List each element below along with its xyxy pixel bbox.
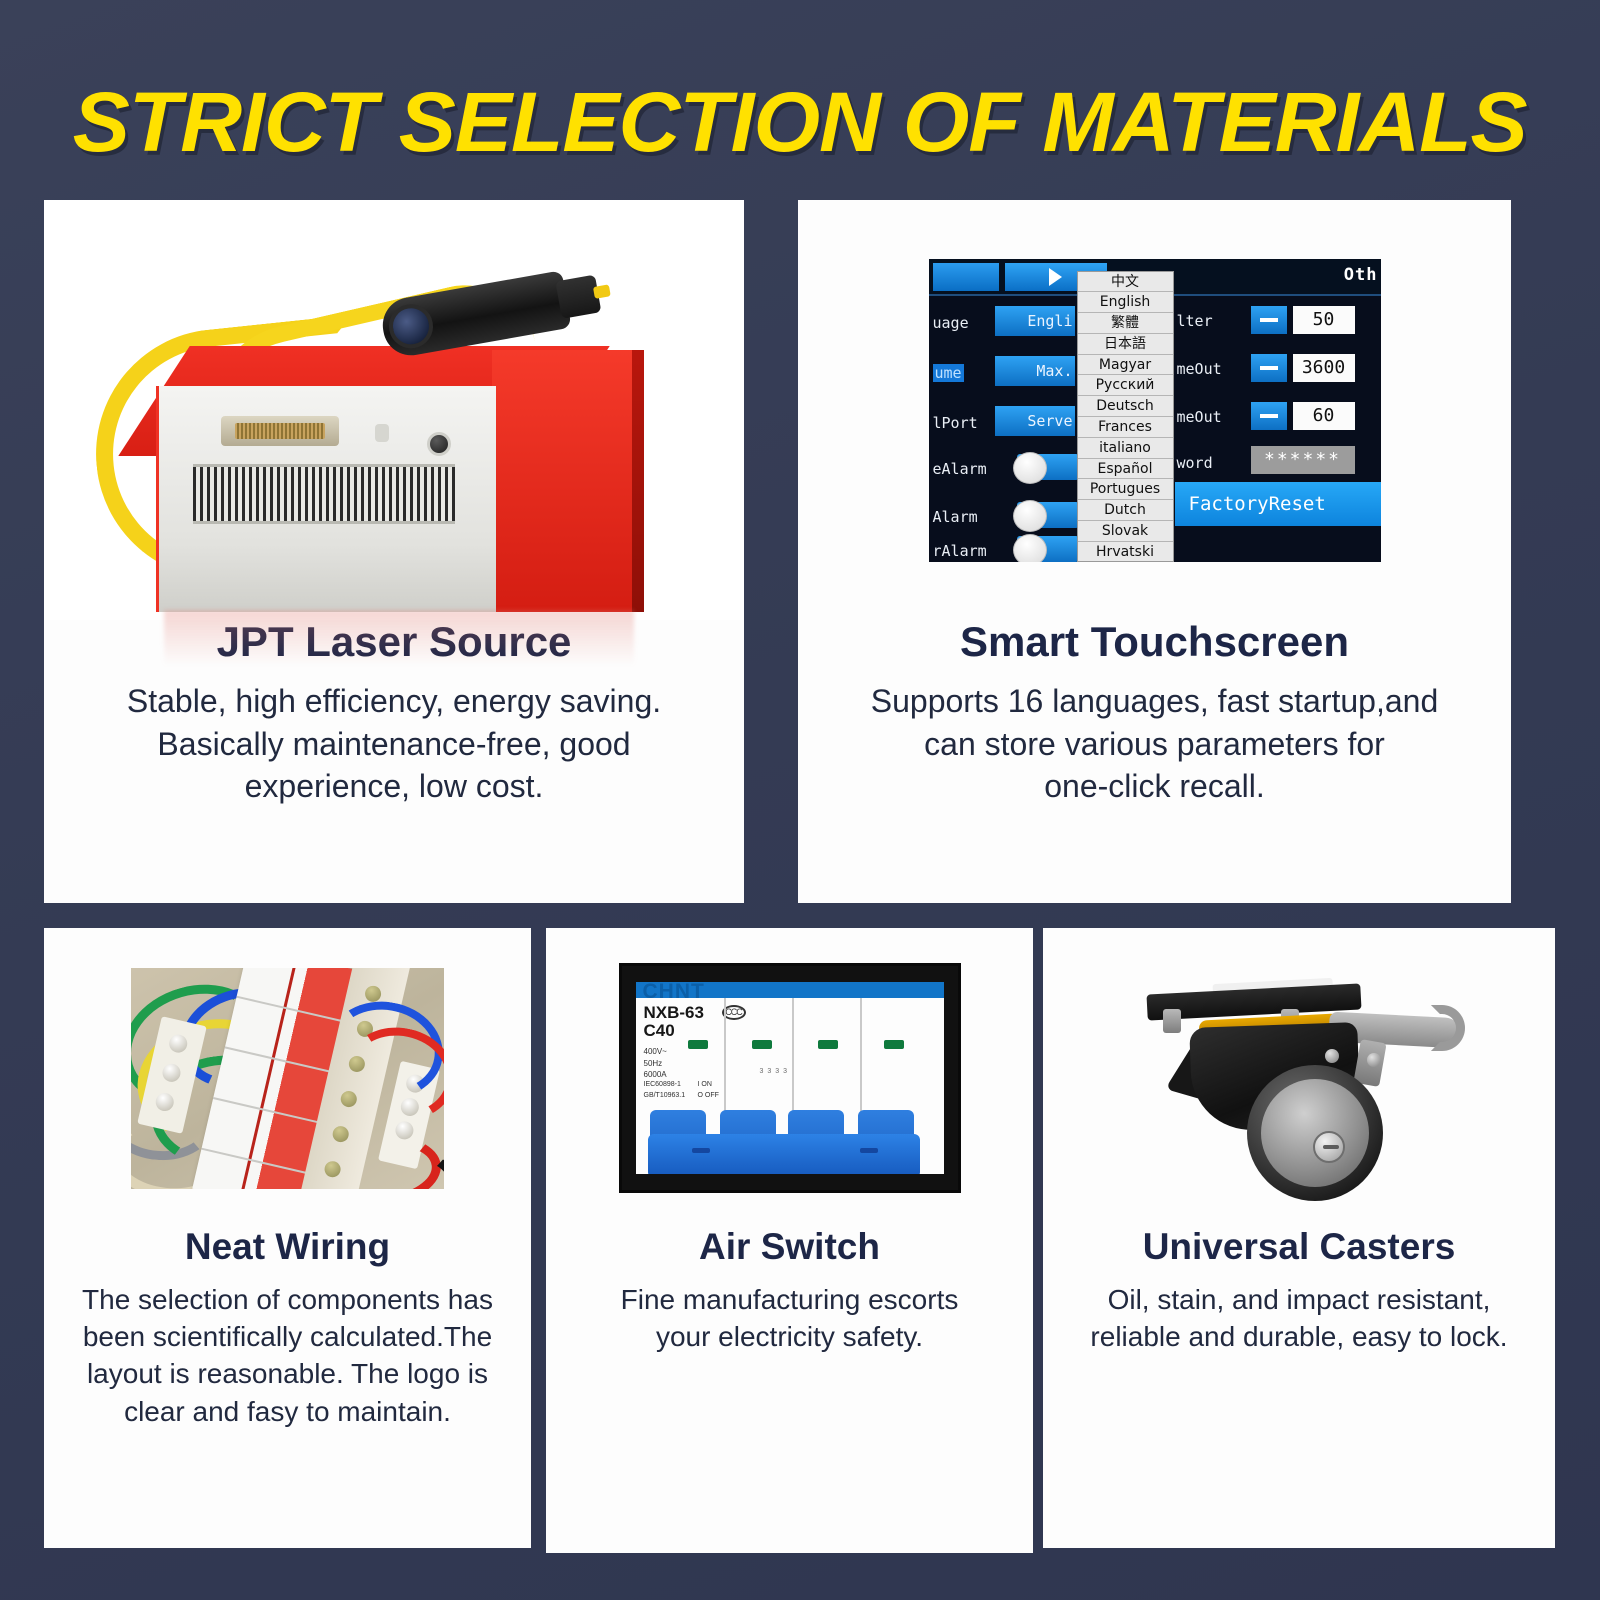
breaker-pole-divider bbox=[236, 995, 342, 1021]
touchscreen-ui-mock: Oth uage Engli ume Max. lPort Serve eAla… bbox=[929, 259, 1381, 562]
setting-label-alarm-1: eAlarm bbox=[933, 460, 987, 478]
language-option[interactable]: English bbox=[1078, 292, 1173, 313]
setting-label-language: uage bbox=[933, 314, 969, 332]
language-option[interactable]: Portugues bbox=[1078, 479, 1173, 500]
panel-screw-icon bbox=[375, 424, 389, 442]
caster-hub-bolt bbox=[1313, 1131, 1345, 1163]
air-switch-image: CHNT NXB-63 C40 CCC 400V~ 50Hz 6000A IEC… bbox=[546, 928, 1033, 1228]
minus-icon-timeout-2[interactable] bbox=[1251, 402, 1287, 430]
laser-front-panel bbox=[156, 386, 496, 612]
language-option[interactable]: 中文 bbox=[1078, 272, 1173, 293]
breaker-status-indicator bbox=[688, 1040, 708, 1049]
wiring-photo bbox=[131, 968, 444, 1189]
breaker-spec-frequency: 50Hz bbox=[644, 1058, 667, 1070]
card-title-universal-casters: Universal Casters bbox=[1143, 1228, 1456, 1267]
setting-value-serialport[interactable]: Serve bbox=[995, 406, 1075, 436]
desc-line: layout is reasonable. The logo is bbox=[82, 1355, 493, 1392]
setting-label-volume-text: ume bbox=[933, 364, 964, 382]
param-value-filter[interactable]: 50 bbox=[1293, 306, 1355, 334]
breaker-brand-label: CHNT bbox=[643, 982, 705, 1004]
desc-line: one-click recall. bbox=[871, 765, 1439, 808]
breaker-status-indicator bbox=[884, 1040, 904, 1049]
play-triangle-icon bbox=[1049, 268, 1062, 286]
rail-screw bbox=[363, 984, 382, 1003]
desc-line: reliable and durable, easy to lock. bbox=[1090, 1318, 1507, 1355]
terminal-hole bbox=[161, 1062, 183, 1084]
breaker-model-number: NXB-63 bbox=[644, 1004, 704, 1022]
setting-label-volume: ume bbox=[933, 364, 964, 382]
language-option[interactable]: italiano bbox=[1078, 438, 1173, 459]
param-label-password: word bbox=[1177, 454, 1213, 472]
card-title-neat-wiring: Neat Wiring bbox=[185, 1228, 390, 1267]
infographic-page: STRICT SELECTION OF MATERIALS bbox=[0, 0, 1600, 1600]
desc-line: been scientifically calculated.The bbox=[82, 1318, 493, 1355]
breaker-off-label: O OFF bbox=[698, 1091, 719, 1102]
circuit-breaker-photo: CHNT NXB-63 C40 CCC 400V~ 50Hz 6000A IEC… bbox=[619, 963, 961, 1193]
feature-card-air-switch: CHNT NXB-63 C40 CCC 400V~ 50Hz 6000A IEC… bbox=[546, 928, 1033, 1553]
card-title-smart-touchscreen: Smart Touchscreen bbox=[960, 620, 1349, 664]
tab-button-left[interactable] bbox=[933, 263, 999, 291]
language-option[interactable]: 日本語 bbox=[1078, 334, 1173, 355]
breaker-schematic-marks: 3333 bbox=[760, 1068, 792, 1075]
breaker-standard-gb: GB/T10963.1 bbox=[644, 1091, 686, 1102]
language-option[interactable]: Español bbox=[1078, 459, 1173, 480]
desc-line: clear and fasy to maintain. bbox=[82, 1393, 493, 1430]
language-option[interactable]: Magyar bbox=[1078, 355, 1173, 376]
caster-wheel bbox=[1247, 1065, 1383, 1201]
feature-card-neat-wiring: Neat Wiring The selection of components … bbox=[44, 928, 531, 1548]
param-label-timeout-2: meOut bbox=[1177, 408, 1222, 426]
language-option[interactable]: Hrvatski bbox=[1078, 542, 1173, 562]
card-description-universal-casters: Oil, stain, and impact resistant, reliab… bbox=[1064, 1281, 1533, 1355]
breaker-pole-divider bbox=[201, 1147, 307, 1173]
terminal-hole bbox=[167, 1032, 189, 1054]
breaker-body: CHNT NXB-63 C40 CCC 400V~ 50Hz 6000A IEC… bbox=[636, 982, 944, 1174]
breaker-status-indicator bbox=[752, 1040, 772, 1049]
terminal-hole bbox=[154, 1091, 176, 1113]
desc-line: Fine manufacturing escorts bbox=[621, 1281, 959, 1318]
universal-casters-image bbox=[1043, 928, 1555, 1228]
tie-bar-mark bbox=[860, 1148, 878, 1153]
db25-connector-icon bbox=[221, 416, 339, 446]
breaker-standard-block: IEC60898-1 GB/T10963.1 bbox=[644, 1080, 686, 1101]
param-value-timeout-2[interactable]: 60 bbox=[1293, 402, 1355, 430]
language-option[interactable]: Slovak bbox=[1078, 521, 1173, 542]
desc-line: The selection of components has bbox=[82, 1281, 493, 1318]
breaker-spec-block: 400V~ 50Hz 6000A bbox=[644, 1046, 667, 1081]
caster-brake-hook[interactable] bbox=[1431, 1005, 1465, 1051]
neat-wiring-image bbox=[44, 928, 531, 1228]
ventilation-grille bbox=[193, 464, 455, 524]
desc-line: Basically maintenance-free, good bbox=[127, 723, 661, 766]
language-dropdown-list[interactable]: 中文 English 繁體 日本語 Magyar Русский Deutsch… bbox=[1077, 271, 1174, 562]
breaker-status-indicator bbox=[818, 1040, 838, 1049]
laser-housing-side bbox=[492, 350, 644, 612]
setting-label-alarm-3: rAlarm bbox=[933, 542, 987, 560]
desc-line: Oil, stain, and impact resistant, bbox=[1090, 1281, 1507, 1318]
language-option[interactable]: Deutsch bbox=[1078, 396, 1173, 417]
desc-line: Stable, high efficiency, energy saving. bbox=[127, 680, 661, 723]
caster-photo bbox=[1129, 953, 1469, 1203]
minus-icon-timeout-1[interactable] bbox=[1251, 354, 1287, 382]
factory-reset-button[interactable]: FactoryReset bbox=[1175, 482, 1381, 526]
desc-line: your electricity safety. bbox=[621, 1318, 959, 1355]
jpt-laser-source-image bbox=[44, 200, 744, 620]
breaker-pole-divider bbox=[792, 998, 794, 1112]
rail-screw bbox=[331, 1124, 350, 1143]
feature-card-universal-casters: Universal Casters Oil, stain, and impact… bbox=[1043, 928, 1555, 1548]
param-label-filter: lter bbox=[1177, 312, 1213, 330]
tab-label-other: Oth bbox=[1344, 265, 1378, 285]
desc-line: Supports 16 languages, fast startup,and bbox=[871, 680, 1439, 723]
breaker-model-label: NXB-63 C40 bbox=[644, 1004, 704, 1041]
tie-bar-mark bbox=[692, 1148, 710, 1153]
card-description-smart-touchscreen: Supports 16 languages, fast startup,and … bbox=[845, 680, 1465, 808]
language-option[interactable]: 繁體 bbox=[1078, 313, 1173, 334]
setting-value-language[interactable]: Engli bbox=[995, 306, 1075, 336]
language-option[interactable]: Dutch bbox=[1078, 500, 1173, 521]
page-title: STRICT SELECTION OF MATERIALS bbox=[73, 74, 1527, 171]
laser-photo-stage bbox=[44, 200, 744, 620]
breaker-red-stripe bbox=[239, 968, 298, 1189]
card-description-jpt-laser-source: Stable, high efficiency, energy saving. … bbox=[101, 680, 687, 808]
caster-tread bbox=[1261, 1079, 1369, 1187]
header-banner: STRICT SELECTION OF MATERIALS bbox=[0, 66, 1600, 178]
setting-value-volume[interactable]: Max. bbox=[995, 356, 1075, 386]
breaker-onoff-block: I ON O OFF bbox=[698, 1080, 719, 1101]
param-value-password[interactable]: ****** bbox=[1251, 446, 1355, 474]
desc-line: can store various parameters for bbox=[871, 723, 1439, 766]
touchscreen-left-panel: uage Engli ume Max. lPort Serve eAlarm A… bbox=[929, 296, 1079, 562]
breaker-pole-divider bbox=[860, 998, 862, 1112]
breaker-tie-bar[interactable] bbox=[648, 1134, 920, 1174]
smart-touchscreen-image: Oth uage Engli ume Max. lPort Serve eAla… bbox=[798, 200, 1511, 620]
caster-pin bbox=[1367, 1053, 1381, 1067]
breaker-pole-divider bbox=[724, 998, 726, 1112]
setting-label-alarm-2: Alarm bbox=[933, 508, 978, 526]
param-label-timeout-1: meOut bbox=[1177, 360, 1222, 378]
language-option[interactable]: Русский bbox=[1078, 375, 1173, 396]
feature-card-jpt-laser-source: JPT Laser Source Stable, high efficiency… bbox=[44, 200, 744, 903]
lens-glass-icon bbox=[386, 301, 437, 352]
caster-bolt bbox=[1163, 1009, 1181, 1033]
breaker-curve-rating: C40 bbox=[644, 1022, 704, 1040]
breaker-pole-divider bbox=[225, 1046, 331, 1072]
card-description-neat-wiring: The selection of components has been sci… bbox=[56, 1281, 519, 1430]
barrel-tip bbox=[555, 275, 601, 319]
language-option[interactable]: Frances bbox=[1078, 417, 1173, 438]
caster-pin bbox=[1325, 1049, 1339, 1063]
desc-line: experience, low cost. bbox=[127, 765, 661, 808]
surface-reflection bbox=[164, 610, 634, 666]
minus-icon-filter[interactable] bbox=[1251, 306, 1287, 334]
setting-label-serialport: lPort bbox=[933, 414, 978, 432]
toggle-knob-alarm-3[interactable] bbox=[1013, 534, 1047, 562]
panel-port-icon bbox=[427, 432, 451, 456]
param-value-timeout-1[interactable]: 3600 bbox=[1293, 354, 1355, 382]
toggle-knob-alarm-2[interactable] bbox=[1013, 500, 1047, 532]
breaker-spec-voltage: 400V~ bbox=[644, 1046, 667, 1058]
breaker-standard-iec: IEC60898-1 bbox=[644, 1080, 686, 1091]
breaker-on-label: I ON bbox=[698, 1080, 719, 1091]
card-title-air-switch: Air Switch bbox=[699, 1228, 880, 1267]
toggle-knob-alarm-1[interactable] bbox=[1013, 452, 1047, 484]
card-description-air-switch: Fine manufacturing escorts your electric… bbox=[595, 1281, 985, 1355]
breaker-pole-divider bbox=[213, 1097, 319, 1123]
feature-card-smart-touchscreen: Oth uage Engli ume Max. lPort Serve eAla… bbox=[798, 200, 1511, 903]
